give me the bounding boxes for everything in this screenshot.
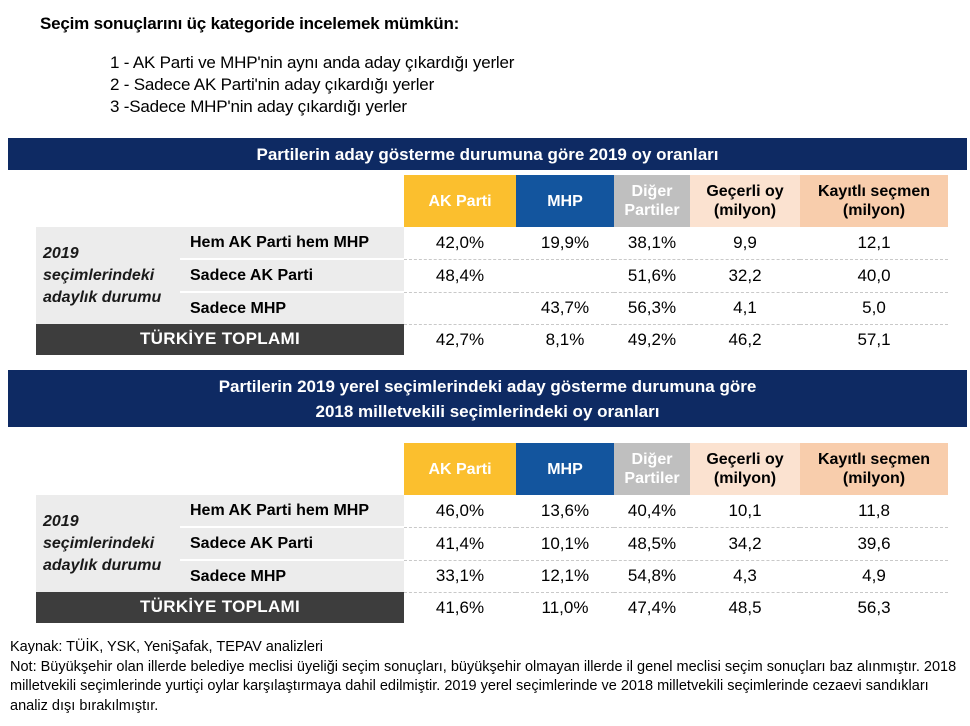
table2-col-header-gecerli-oy: Geçerli oy (milyon) xyxy=(690,443,800,495)
table2-cell-mhp-0: 13,6% xyxy=(516,495,614,527)
table1-row-label-0: Hem AK Parti hem MHP xyxy=(180,227,404,259)
table2-col-header-mhp-line1: MHP xyxy=(516,460,614,479)
table2-col-header-gecerli-line1: Geçerli oy xyxy=(690,450,800,469)
table2-col-header-kayitli-secmen: Kayıtlı seçmen (milyon) xyxy=(800,443,948,495)
table2-title-banner: Partilerin 2019 yerel seçimlerindeki ada… xyxy=(8,370,967,427)
table1-cell-mhp-1 xyxy=(516,259,614,292)
table1-cell-gecerli-1: 32,2 xyxy=(690,259,800,292)
table1-row-label-1: Sadece AK Parti xyxy=(180,259,404,292)
table1-col-header-gecerli-oy: Geçerli oy (milyon) xyxy=(690,175,800,227)
table1-col-header-diger-line1: Diğer xyxy=(614,182,690,201)
table2-cell-mhp-2: 12,1% xyxy=(516,560,614,592)
table1-total-mhp: 8,1% xyxy=(516,324,614,355)
table1-cell-ak-0: 42,0% xyxy=(404,227,516,259)
table1-row-label-2: Sadece MHP xyxy=(180,292,404,324)
table2-title-line1: Partilerin 2019 yerel seçimlerindeki ada… xyxy=(219,374,757,399)
table1-cell-kayitli-0: 12,1 xyxy=(800,227,948,259)
table1-cell-mhp-2: 43,7% xyxy=(516,292,614,324)
table1-header-row: AK Parti MHP Diğer Partiler Geçerli oy (… xyxy=(36,175,948,227)
table1-col-header-mhp: MHP xyxy=(516,175,614,227)
table2-cell-ak-0: 46,0% xyxy=(404,495,516,527)
table2-cell-diger-0: 40,4% xyxy=(614,495,690,527)
table-2018-vote-shares: AK Parti MHP Diğer Partiler Geçerli oy (… xyxy=(36,443,948,623)
table2-col-header-diger-line1: Diğer xyxy=(614,450,690,469)
table1-col-header-diger-partiler: Diğer Partiler xyxy=(614,175,690,227)
table2-col-header-gecerli-line2: (milyon) xyxy=(690,469,800,488)
table1-col-header-kayitli-line1: Kayıtlı seçmen xyxy=(800,182,948,201)
table2-cell-kayitli-1: 39,6 xyxy=(800,527,948,560)
intro-list-item-2: 2 - Sadece AK Parti'nin aday çıkardığı y… xyxy=(110,74,514,96)
table2-header-row: AK Parti MHP Diğer Partiler Geçerli oy (… xyxy=(36,443,948,495)
table-row: 2019 seçimlerindeki adaylık durumu Hem A… xyxy=(36,227,948,259)
table2-col-header-diger-partiler: Diğer Partiler xyxy=(614,443,690,495)
table2-cell-gecerli-0: 10,1 xyxy=(690,495,800,527)
table1-total-gecerli: 46,2 xyxy=(690,324,800,355)
intro-list-item-3: 3 -Sadece MHP'nin aday çıkardığı yerler xyxy=(110,96,514,118)
table1-col-header-ak-parti-line1: AK Parti xyxy=(404,192,516,211)
footnote-source: Kaynak: TÜİK, YSK, YeniŞafak, TEPAV anal… xyxy=(10,638,962,658)
table2-cell-mhp-1: 10,1% xyxy=(516,527,614,560)
table1-header-spacer xyxy=(36,175,180,227)
table-2019-vote-shares: AK Parti MHP Diğer Partiler Geçerli oy (… xyxy=(36,175,948,355)
table2-row-label-1: Sadece AK Parti xyxy=(180,527,404,560)
table1-cell-diger-1: 51,6% xyxy=(614,259,690,292)
table2-cell-ak-2: 33,1% xyxy=(404,560,516,592)
intro-list-item-1: 1 - AK Parti ve MHP'nin aynı anda aday ç… xyxy=(110,52,514,74)
table1-col-header-kayitli-line2: (milyon) xyxy=(800,201,948,220)
table2-row-label-2: Sadece MHP xyxy=(180,560,404,592)
table2-cell-diger-2: 54,8% xyxy=(614,560,690,592)
footnote: Kaynak: TÜİK, YSK, YeniŞafak, TEPAV anal… xyxy=(10,638,962,716)
table2-cell-ak-1: 41,4% xyxy=(404,527,516,560)
table1-cell-gecerli-2: 4,1 xyxy=(690,292,800,324)
table2-group-label: 2019 seçimlerindeki adaylık durumu xyxy=(36,495,180,592)
table1-cell-gecerli-0: 9,9 xyxy=(690,227,800,259)
table2-row-label-0: Hem AK Parti hem MHP xyxy=(180,495,404,527)
table2-cell-kayitli-2: 4,9 xyxy=(800,560,948,592)
table1-cell-diger-0: 38,1% xyxy=(614,227,690,259)
table1-col-header-ak-parti: AK Parti xyxy=(404,175,516,227)
table2-total-gecerli: 48,5 xyxy=(690,592,800,623)
table1-cell-kayitli-1: 40,0 xyxy=(800,259,948,292)
table2-total-ak: 41,6% xyxy=(404,592,516,623)
table-row: 2019 seçimlerindeki adaylık durumu Hem A… xyxy=(36,495,948,527)
table1-total-kayitli: 57,1 xyxy=(800,324,948,355)
table2-col-header-ak-parti: AK Parti xyxy=(404,443,516,495)
intro-category-list: 1 - AK Parti ve MHP'nin aynı anda aday ç… xyxy=(110,52,514,118)
table1-total-label: TÜRKİYE TOPLAMI xyxy=(36,324,404,355)
table2-col-header-kayitli-line1: Kayıtlı seçmen xyxy=(800,450,948,469)
table2: AK Parti MHP Diğer Partiler Geçerli oy (… xyxy=(36,443,948,623)
table1-cell-kayitli-2: 5,0 xyxy=(800,292,948,324)
table1-group-label: 2019 seçimlerindeki adaylık durumu xyxy=(36,227,180,324)
table2-total-row: TÜRKİYE TOPLAMI 41,6% 11,0% 47,4% 48,5 5… xyxy=(36,592,948,623)
table1-cell-ak-1: 48,4% xyxy=(404,259,516,292)
table2-cell-kayitli-0: 11,8 xyxy=(800,495,948,527)
table1-col-header-diger-line2: Partiler xyxy=(614,201,690,220)
table1: AK Parti MHP Diğer Partiler Geçerli oy (… xyxy=(36,175,948,355)
table2-cell-diger-1: 48,5% xyxy=(614,527,690,560)
table1-col-header-kayitli-secmen: Kayıtlı seçmen (milyon) xyxy=(800,175,948,227)
table2-total-label: TÜRKİYE TOPLAMI xyxy=(36,592,404,623)
table2-col-header-ak-parti-line1: AK Parti xyxy=(404,460,516,479)
table2-col-header-diger-line2: Partiler xyxy=(614,469,690,488)
table2-title-line2: 2018 milletvekili seçimlerindeki oy oran… xyxy=(219,399,757,424)
table2-header-spacer-2 xyxy=(180,443,404,495)
table2-cell-gecerli-2: 4,3 xyxy=(690,560,800,592)
table1-col-header-mhp-line1: MHP xyxy=(516,192,614,211)
table1-header-spacer-2 xyxy=(180,175,404,227)
intro-heading: Seçim sonuçlarını üç kategoride inceleme… xyxy=(40,14,459,34)
table2-total-kayitli: 56,3 xyxy=(800,592,948,623)
table2-total-mhp: 11,0% xyxy=(516,592,614,623)
table1-title-banner: Partilerin aday gösterme durumuna göre 2… xyxy=(8,138,967,170)
table1-cell-ak-2 xyxy=(404,292,516,324)
table1-total-ak: 42,7% xyxy=(404,324,516,355)
table1-total-row: TÜRKİYE TOPLAMI 42,7% 8,1% 49,2% 46,2 57… xyxy=(36,324,948,355)
table1-total-diger: 49,2% xyxy=(614,324,690,355)
table1-cell-diger-2: 56,3% xyxy=(614,292,690,324)
table2-total-diger: 47,4% xyxy=(614,592,690,623)
table2-col-header-mhp: MHP xyxy=(516,443,614,495)
table1-col-header-gecerli-line1: Geçerli oy xyxy=(690,182,800,201)
table2-col-header-kayitli-line2: (milyon) xyxy=(800,469,948,488)
footnote-note: Not: Büyükşehir olan illerde belediye me… xyxy=(10,658,962,717)
table2-header-spacer xyxy=(36,443,180,495)
table2-cell-gecerli-1: 34,2 xyxy=(690,527,800,560)
table1-col-header-gecerli-line2: (milyon) xyxy=(690,201,800,220)
table1-cell-mhp-0: 19,9% xyxy=(516,227,614,259)
